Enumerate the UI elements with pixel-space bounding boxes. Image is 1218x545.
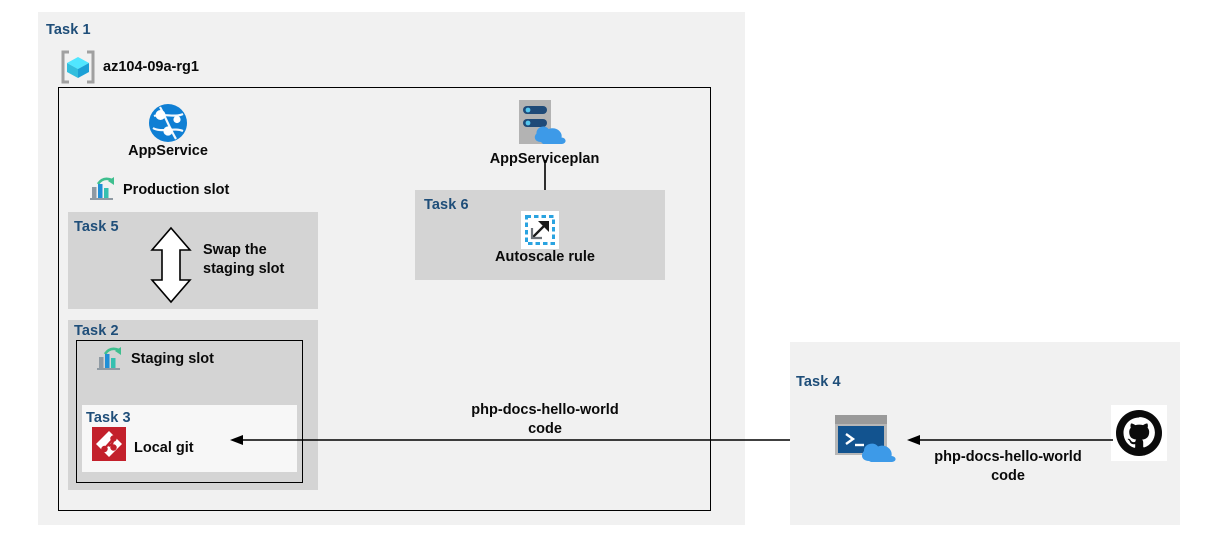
- production-slot-label: Production slot: [123, 181, 229, 200]
- deployment-slot-icon-staging: [95, 345, 125, 373]
- swap-label-line2: staging slot: [203, 261, 284, 277]
- github-icon: [1111, 405, 1167, 461]
- git-icon: [92, 427, 126, 461]
- task6-label: Task 6: [424, 197, 469, 213]
- swap-label-line1: Swap the: [203, 242, 267, 258]
- task2-label: Task 2: [74, 323, 119, 339]
- local-git-label: Local git: [134, 439, 194, 458]
- app-service-plan-icon: [513, 98, 575, 150]
- edge-github-label-line2: code: [991, 468, 1025, 484]
- task5-label: Task 5: [74, 219, 119, 235]
- swap-label: Swap the staging slot: [203, 241, 284, 278]
- resource-group-icon: [60, 50, 96, 84]
- deployment-slot-icon-production: [88, 175, 118, 203]
- task4-label: Task 4: [796, 374, 841, 390]
- diagram-canvas: Task 1 az104-09a-rg1 AppService: [0, 0, 1218, 545]
- edge-github-label: php-docs-hello-world code: [918, 448, 1098, 485]
- edge-github-label-line1: php-docs-hello-world: [934, 449, 1081, 465]
- autoscale-rule-label: Autoscale rule: [455, 248, 635, 267]
- edge-cloudshell-label-line2: code: [528, 421, 562, 437]
- edge-cloudshell-label-line1: php-docs-hello-world: [471, 402, 618, 418]
- autoscale-icon: [521, 211, 559, 249]
- task1-label: Task 1: [46, 22, 91, 38]
- cloud-shell-icon: [833, 413, 899, 463]
- resource-group-label: az104-09a-rg1: [103, 58, 199, 77]
- edge-cloudshell-label: php-docs-hello-world code: [455, 401, 635, 438]
- staging-slot-label: Staging slot: [131, 350, 214, 369]
- swap-arrow-icon: [148, 226, 194, 304]
- app-service-icon: [148, 103, 188, 143]
- task3-label: Task 3: [86, 410, 131, 426]
- app-service-label: AppService: [108, 142, 228, 161]
